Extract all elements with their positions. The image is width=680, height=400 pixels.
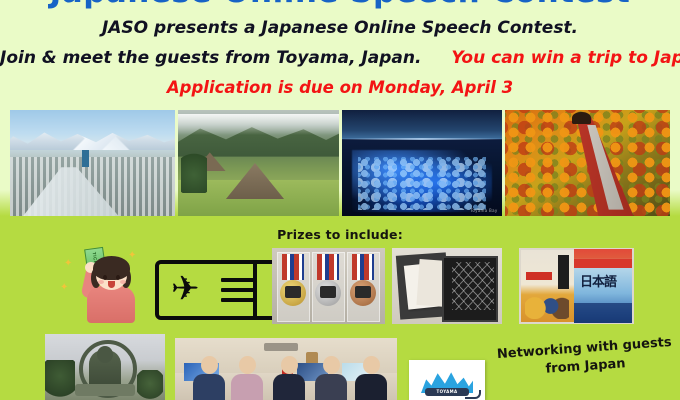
tree-shape bbox=[181, 148, 207, 193]
textbook-right: 日本語 bbox=[574, 249, 632, 323]
photo-firefly-squid-bay: Toyama Bay bbox=[342, 110, 502, 216]
photo-medals-prize bbox=[272, 248, 385, 324]
vertical-title-bar bbox=[558, 255, 569, 289]
tower-shape bbox=[82, 150, 89, 167]
cover-illustration bbox=[525, 292, 569, 319]
toyama-mountain-logo: TOYAMA bbox=[409, 360, 485, 400]
cheek-right bbox=[120, 280, 126, 284]
headline-line-2: Join & meet the guests from Toyama, Japa… bbox=[0, 43, 680, 73]
photo-toyama-city-tateyama-mountains bbox=[10, 110, 175, 216]
buddha-head bbox=[97, 346, 113, 363]
medal-ribbon-2 bbox=[317, 254, 339, 280]
textbook-left bbox=[521, 250, 574, 322]
girl-holding-ticket-illustration: ✦ ✦ ✦ TICKET bbox=[60, 248, 140, 323]
sparkle-icon: ✦ bbox=[64, 258, 72, 269]
guest-person bbox=[273, 356, 305, 400]
buddha-pedestal bbox=[75, 384, 135, 396]
logo-swoosh bbox=[465, 390, 481, 399]
mountain-range-shape bbox=[10, 127, 175, 150]
horizon-line bbox=[342, 138, 502, 140]
photo-gokayama-thatched-village bbox=[178, 110, 340, 216]
photo-guests-group bbox=[175, 338, 397, 400]
hero-photo-strip: Toyama Bay bbox=[10, 110, 670, 216]
cover-top-band bbox=[574, 259, 632, 268]
tunnel-opening bbox=[572, 112, 590, 124]
airplane-ticket-icon: ✈ bbox=[155, 260, 283, 320]
sparkle-icon: ✦ bbox=[128, 250, 136, 261]
bronze-medal bbox=[350, 280, 376, 306]
photo-japanese-textbooks-prize: 日本語 bbox=[519, 248, 634, 324]
headline-line-1: JASO presents a Japanese Online Speech C… bbox=[0, 13, 680, 43]
mouth-shape bbox=[108, 281, 115, 288]
photo-great-buddha bbox=[45, 334, 165, 400]
web-pattern-artwork bbox=[452, 262, 494, 310]
night-sky-shape bbox=[342, 110, 502, 139]
textbook-title: 日本語 bbox=[580, 271, 616, 290]
photo-watermark: Toyama Bay bbox=[470, 208, 497, 213]
ticket-perforation bbox=[253, 260, 257, 320]
medal-ribbon-1 bbox=[282, 254, 304, 280]
cheek-left bbox=[98, 280, 104, 284]
photo-giftbox-prize bbox=[392, 248, 502, 324]
silver-medal bbox=[315, 280, 341, 306]
eye-right bbox=[116, 275, 120, 280]
tree-right bbox=[137, 370, 163, 400]
hair-top bbox=[93, 256, 130, 280]
logo-name-band: TOYAMA bbox=[425, 388, 469, 396]
guest-person bbox=[231, 356, 263, 400]
guest-person bbox=[193, 356, 225, 400]
headline-line-3-deadline: Application is due on Monday, April 3 bbox=[0, 73, 680, 103]
headline-line-2-red: You can win a trip to Japan! bbox=[451, 48, 680, 68]
flyer-poster: Japanese Online Speech Contest JASO pres… bbox=[0, 0, 680, 400]
guest-person bbox=[315, 356, 347, 400]
logo-text: TOYAMA bbox=[425, 388, 469, 396]
sparkle-icon: ✦ bbox=[60, 282, 68, 293]
ceiling-vent bbox=[264, 343, 298, 351]
prizes-heading: Prizes to include: bbox=[0, 227, 680, 242]
headline-block: JASO presents a Japanese Online Speech C… bbox=[0, 13, 680, 103]
gold-medal bbox=[280, 280, 306, 306]
bioluminescent-sparkles bbox=[358, 157, 486, 210]
photo-kurobe-red-bridge-autumn bbox=[505, 110, 670, 216]
guest-person bbox=[355, 356, 387, 400]
torso-shape bbox=[87, 286, 135, 323]
cover-footer-band bbox=[574, 303, 632, 323]
ticket-text-lines bbox=[221, 278, 255, 308]
tree-left bbox=[45, 360, 75, 400]
eye-left bbox=[103, 275, 107, 280]
mist-overlay bbox=[178, 114, 340, 135]
poster-title-text: Japanese Online Speech Contest bbox=[0, 0, 680, 10]
red-label-bar bbox=[526, 272, 552, 280]
poster-title-cropped: Japanese Online Speech Contest bbox=[0, 0, 680, 13]
headline-line-2-black: Join & meet the guests from Toyama, Japa… bbox=[0, 48, 421, 68]
medal-ribbon-3 bbox=[352, 254, 374, 280]
airplane-glyph: ✈ bbox=[171, 272, 211, 306]
